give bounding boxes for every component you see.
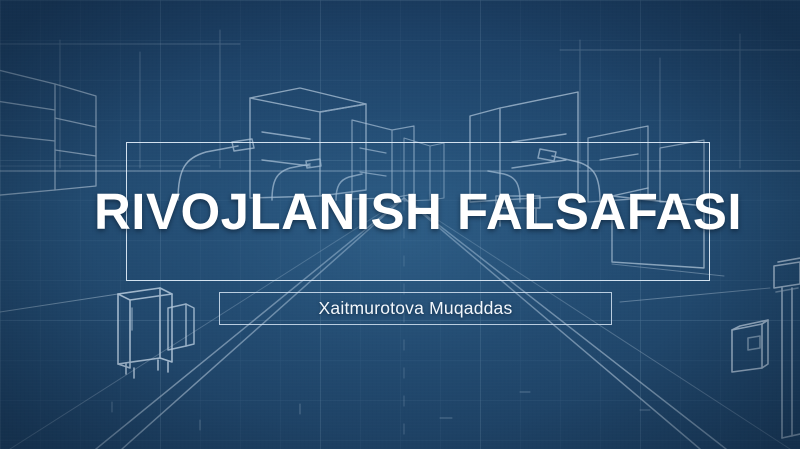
subtitle-box: Xaitmurotova Muqaddas	[219, 292, 612, 325]
slide-subtitle-author: Xaitmurotova Muqaddas	[319, 300, 513, 318]
title-box: RIVOJLANISH FALSAFASI	[126, 142, 710, 281]
title-slide: RIVOJLANISH FALSAFASI Xaitmurotova Muqad…	[0, 0, 800, 449]
slide-title: RIVOJLANISH FALSAFASI	[94, 186, 742, 237]
